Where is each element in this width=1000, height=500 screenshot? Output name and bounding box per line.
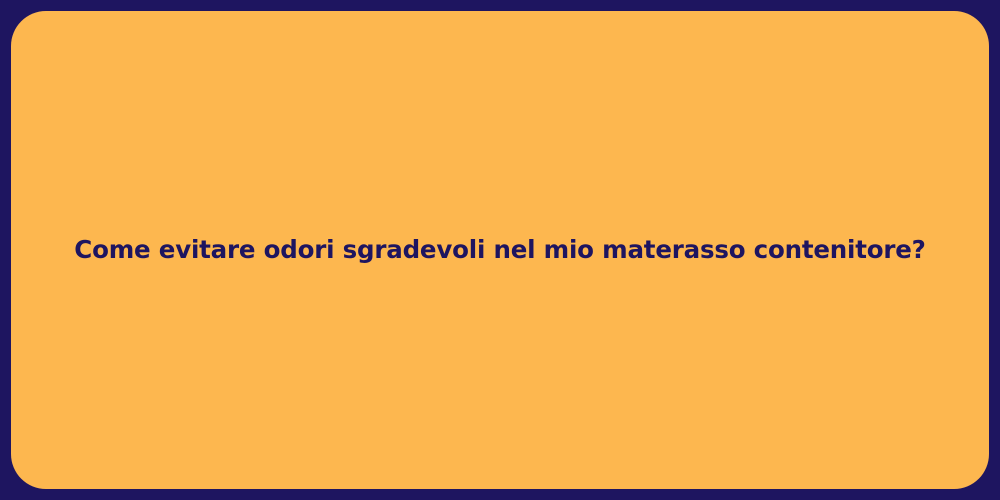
page-title: Come evitare odori sgradevoli nel mio ma… [44,235,955,266]
banner-root: Come evitare odori sgradevoli nel mio ma… [0,0,1000,500]
hero-card: Come evitare odori sgradevoli nel mio ma… [11,11,989,489]
